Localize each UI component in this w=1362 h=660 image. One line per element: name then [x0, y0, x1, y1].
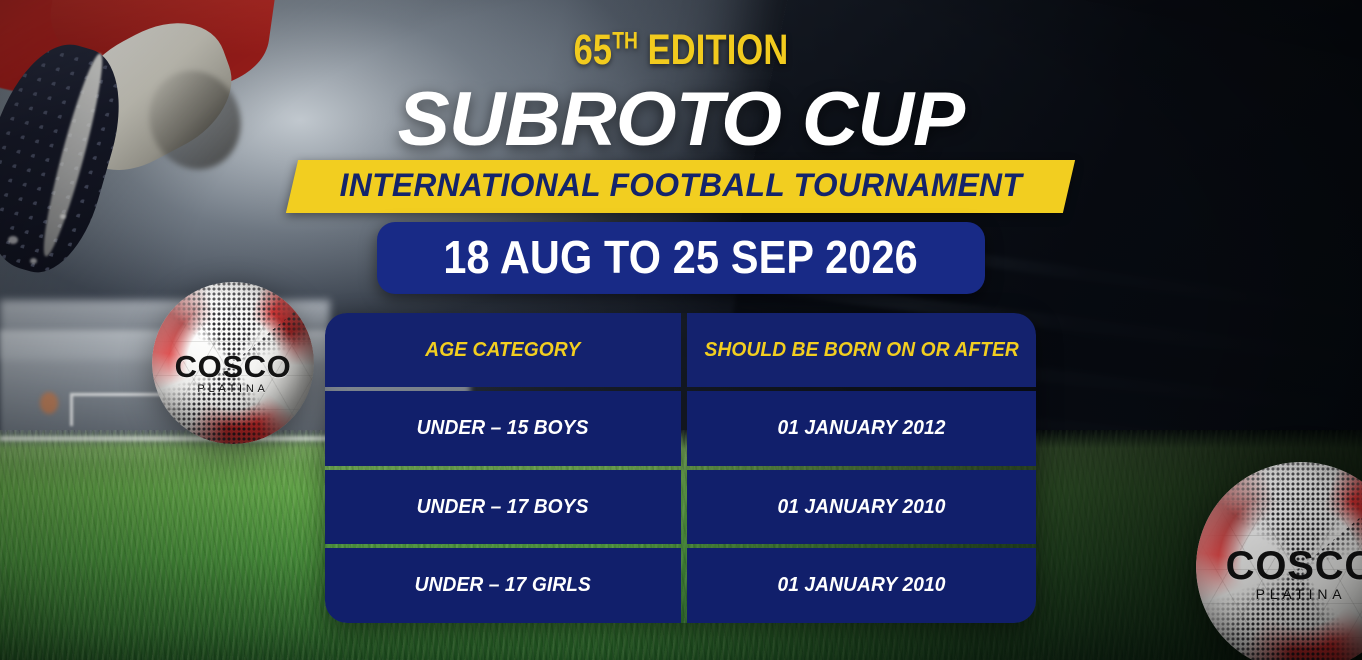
table-header-cell-age-category: AGE CATEGORY — [325, 313, 681, 387]
subtitle-text: INTERNATIONAL FOOTBALL TOURNAMENT — [340, 167, 1022, 204]
subroto-cup-poster: COSCO PLATINA COSCO PLATINA 65TH EDITION… — [0, 0, 1362, 660]
table-cell-label: UNDER – 17 GIRLS — [415, 574, 591, 597]
date-range-text: 18 AUG TO 25 SEP 2026 — [444, 230, 918, 284]
table-header-cell-birth-date: SHOULD BE BORN ON OR AFTER — [687, 313, 1036, 387]
table-row: UNDER – 17 GIRLS 01 JANUARY 2010 — [325, 548, 1036, 623]
table-cell-label: 01 JANUARY 2010 — [777, 496, 945, 519]
table-row: UNDER – 17 BOYS 01 JANUARY 2010 — [325, 470, 1036, 545]
table-cell-age-category: UNDER – 15 BOYS — [325, 391, 681, 466]
poster-content: 65TH EDITION SUBROTO CUP INTERNATIONAL F… — [0, 0, 1362, 660]
table-cell-label: 01 JANUARY 2010 — [777, 574, 945, 597]
table-header-label: AGE CATEGORY — [425, 339, 580, 362]
age-category-table: AGE CATEGORY SHOULD BE BORN ON OR AFTER … — [325, 313, 1036, 623]
table-cell-label: UNDER – 15 BOYS — [417, 417, 589, 440]
table-cell-birth-date: 01 JANUARY 2012 — [687, 391, 1036, 466]
table-cell-age-category: UNDER – 17 BOYS — [325, 470, 681, 545]
table-row: UNDER – 15 BOYS 01 JANUARY 2012 — [325, 391, 1036, 466]
table-header-label: SHOULD BE BORN ON OR AFTER — [704, 339, 1018, 362]
edition-label: 65TH EDITION — [136, 26, 1226, 75]
table-cell-birth-date: 01 JANUARY 2010 — [687, 470, 1036, 545]
page-title: SUBROTO CUP — [0, 76, 1362, 163]
table-header-row: AGE CATEGORY SHOULD BE BORN ON OR AFTER — [325, 313, 1036, 387]
table-cell-label: 01 JANUARY 2012 — [777, 417, 945, 440]
subtitle-ribbon-wrapper: INTERNATIONAL FOOTBALL TOURNAMENT — [0, 160, 1362, 213]
table-cell-label: UNDER – 17 BOYS — [417, 496, 589, 519]
edition-word: EDITION — [638, 26, 788, 74]
edition-ordinal-suffix: TH — [612, 28, 638, 55]
table-cell-age-category: UNDER – 17 GIRLS — [325, 548, 681, 623]
table-cell-birth-date: 01 JANUARY 2010 — [687, 548, 1036, 623]
date-banner: 18 AUG TO 25 SEP 2026 — [377, 222, 984, 294]
edition-number: 65 — [574, 26, 613, 74]
date-banner-wrapper: 18 AUG TO 25 SEP 2026 — [0, 222, 1362, 294]
subtitle-ribbon: INTERNATIONAL FOOTBALL TOURNAMENT — [286, 160, 1076, 213]
